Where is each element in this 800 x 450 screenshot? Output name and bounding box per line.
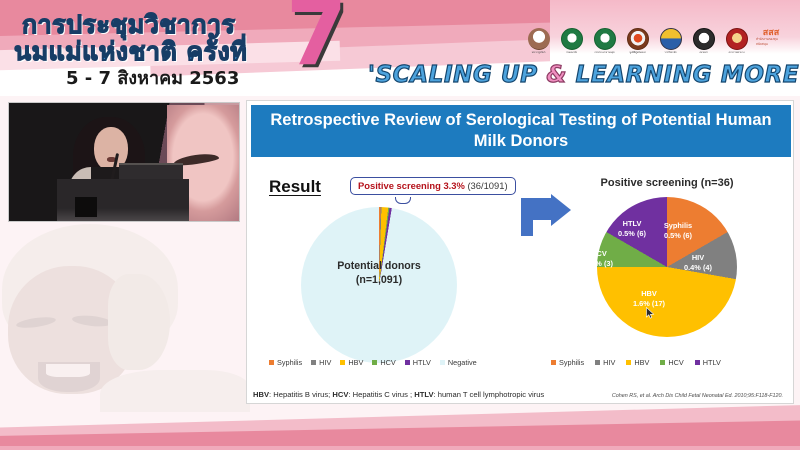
footer-bottom-edge <box>0 446 800 450</box>
legend-swatch-htlv <box>695 360 700 365</box>
result-heading: Result <box>269 177 321 197</box>
pie-left-subtitle: (n=1,091) <box>301 273 457 287</box>
podium-plate <box>75 197 97 217</box>
legend-item-hiv-2[interactable]: HIV <box>595 358 615 367</box>
seal-shape <box>594 28 616 50</box>
royal-college-seal-icon: ราชวิทยาลัย <box>657 28 684 58</box>
tagline-pre: 'SCALING UP <box>368 62 546 88</box>
black-circle-seal-icon: สมาคมฯ <box>690 28 717 58</box>
slice-name-hbv: HBV <box>619 289 679 299</box>
slice-name-htlv: HTLV <box>607 219 657 229</box>
legend-swatch-hiv <box>595 360 600 365</box>
logo-caption: มูลนิธิศูนย์นมแม่ <box>624 51 651 55</box>
legend-label-hbv: HBV <box>348 358 363 367</box>
legend-item-negative[interactable]: Negative <box>440 358 477 367</box>
slice-value-syphilis: 0.5% (6) <box>651 231 705 241</box>
slice-value-htlv: 0.5% (6) <box>607 229 657 239</box>
logo-caption: ราชวิทยาลัย <box>657 51 684 55</box>
legend-swatch-hbv <box>340 360 345 365</box>
presenter-video-panel[interactable] <box>8 102 240 222</box>
positive-screening-legend: Syphilis HIV HBV HCV HTLV <box>551 358 791 367</box>
slide-title: Retrospective Review of Serological Test… <box>251 105 791 157</box>
seal-shape <box>627 28 649 50</box>
baby-hat-brim <box>108 274 170 370</box>
thaihealth-sss-logo-icon: สสส สำนักงานกองทุนสนับสนุน <box>756 28 786 58</box>
seal-shape <box>528 28 550 50</box>
legend-swatch-negative <box>440 360 445 365</box>
pie-slice-label-hcv: HCV 0.3% (3) <box>577 249 621 268</box>
royal-patron-seal-icon: พระราชูปถัมภ์ <box>525 28 552 58</box>
logo-caption: สภาการพยาบาล <box>723 51 750 55</box>
presentation-slide: Retrospective Review of Serological Test… <box>246 100 794 404</box>
slide-footnote-row: HBV: Hepatitis B virus; HCV: Hepatitis C… <box>253 390 789 399</box>
tagline-ampersand: & <box>546 62 567 88</box>
potential-donors-pie-label: Potential donors (n=1,091) <box>301 259 457 288</box>
legend-item-hiv[interactable]: HIV <box>311 358 331 367</box>
legend-label-htlv: HTLV <box>413 358 431 367</box>
seal-shape <box>726 28 748 50</box>
legend-label-hcv: HCV <box>668 358 683 367</box>
slice-name-hcv: HCV <box>577 249 621 259</box>
slice-value-hcv: 0.3% (3) <box>577 259 621 269</box>
legend-label-htlv: HTLV <box>703 358 721 367</box>
ministry-health-seal-1-icon: กรมอนามัย <box>558 28 585 58</box>
baby-body <box>100 370 250 412</box>
legend-item-hcv-2[interactable]: HCV <box>660 358 683 367</box>
legend-item-htlv-2[interactable]: HTLV <box>695 358 721 367</box>
slice-name-hiv: HIV <box>677 253 719 263</box>
source-citation: Cohen RS, et al. Arch Dis Child Fetal Ne… <box>612 393 789 399</box>
slice-value-hiv: 0.4% (4) <box>677 263 719 273</box>
sss-subtext: สำนักงานกองทุนสนับสนุน <box>756 37 786 47</box>
legend-label-syphilis: Syphilis <box>277 358 302 367</box>
logo-caption: กระทรวงสาธารณสุข <box>591 51 618 55</box>
seal-shape <box>561 28 583 50</box>
legend-item-hbv-2[interactable]: HBV <box>626 358 649 367</box>
pie-slice-label-hbv: HBV 1.6% (17) <box>619 289 679 308</box>
logo-caption: สมาคมฯ <box>690 51 717 55</box>
thai-breastfeeding-seal-icon: มูลนิธิศูนย์นมแม่ <box>624 28 651 58</box>
legend-item-syphilis-2[interactable]: Syphilis <box>551 358 584 367</box>
callout-fraction-text: (36/1091) <box>467 180 507 191</box>
legend-swatch-hcv <box>660 360 665 365</box>
callout-highlight-text: Positive screening 3.3% <box>358 180 465 191</box>
legend-label-hcv: HCV <box>380 358 395 367</box>
conference-header-banner: การประชุมวิชาการ นมแม่แห่งชาติ ครั้งที่ … <box>0 0 800 96</box>
seal-shape <box>693 28 715 50</box>
legend-swatch-syphilis <box>269 360 274 365</box>
positive-screening-callout: Positive screening 3.3% (36/1091) <box>350 177 516 195</box>
seal-shape <box>660 28 682 50</box>
legend-swatch-hbv <box>626 360 631 365</box>
sss-wordmark: สสส <box>763 28 779 37</box>
legend-item-syphilis[interactable]: Syphilis <box>269 358 302 367</box>
callout-pointer <box>395 197 411 204</box>
potential-donors-legend: Syphilis HIV HBV HCV HTLV Negative <box>269 358 519 367</box>
pie-left-title: Potential donors <box>301 259 457 273</box>
ministry-health-seal-2-icon: กระทรวงสาธารณสุข <box>591 28 618 58</box>
pie-slice-label-hiv: HIV 0.4% (4) <box>677 253 719 272</box>
conference-date: 5 - 7 สิงหาคม 2563 <box>66 63 239 92</box>
abbreviation-footnote: HBV: Hepatitis B virus; HCV: Hepatitis C… <box>253 390 544 399</box>
sponsor-logo-row: พระราชูปถัมภ์ กรมอนามัย กระทรวงสาธารณสุข… <box>525 28 786 58</box>
legend-item-htlv[interactable]: HTLV <box>405 358 431 367</box>
pie-slice-label-htlv: HTLV 0.5% (6) <box>607 219 657 238</box>
tagline-post: LEARNING MORE' <box>567 62 800 88</box>
slice-name-syphilis: Syphilis <box>651 221 705 231</box>
legend-swatch-hcv <box>372 360 377 365</box>
legend-label-hiv: HIV <box>319 358 331 367</box>
conference-edition-number: 7 <box>286 0 347 78</box>
legend-swatch-syphilis <box>551 360 556 365</box>
pie-slice-label-syphilis: Syphilis 0.5% (6) <box>651 221 705 240</box>
baby-background-photo <box>0 222 250 412</box>
legend-label-negative: Negative <box>448 358 477 367</box>
baby-teeth <box>46 364 90 377</box>
logo-caption: พระราชูปถัมภ์ <box>525 51 552 55</box>
legend-item-hbv[interactable]: HBV <box>340 358 363 367</box>
legend-label-hbv: HBV <box>634 358 649 367</box>
legend-item-hcv[interactable]: HCV <box>372 358 395 367</box>
conference-tagline: 'SCALING UP & LEARNING MORE' <box>368 62 800 88</box>
legend-swatch-hiv <box>311 360 316 365</box>
mouse-cursor-icon <box>646 307 655 319</box>
logo-caption: กรมอนามัย <box>558 51 585 55</box>
legend-label-hiv: HIV <box>603 358 615 367</box>
blue-arrow-icon <box>519 194 573 238</box>
positive-screening-pie-title: Positive screening (n=36) <box>547 177 787 189</box>
legend-label-syphilis: Syphilis <box>559 358 584 367</box>
legend-swatch-htlv <box>405 360 410 365</box>
screenshot-root: การประชุมวิชาการ นมแม่แห่งชาติ ครั้งที่ … <box>0 0 800 450</box>
red-garuda-seal-icon: สภาการพยาบาล <box>723 28 750 58</box>
